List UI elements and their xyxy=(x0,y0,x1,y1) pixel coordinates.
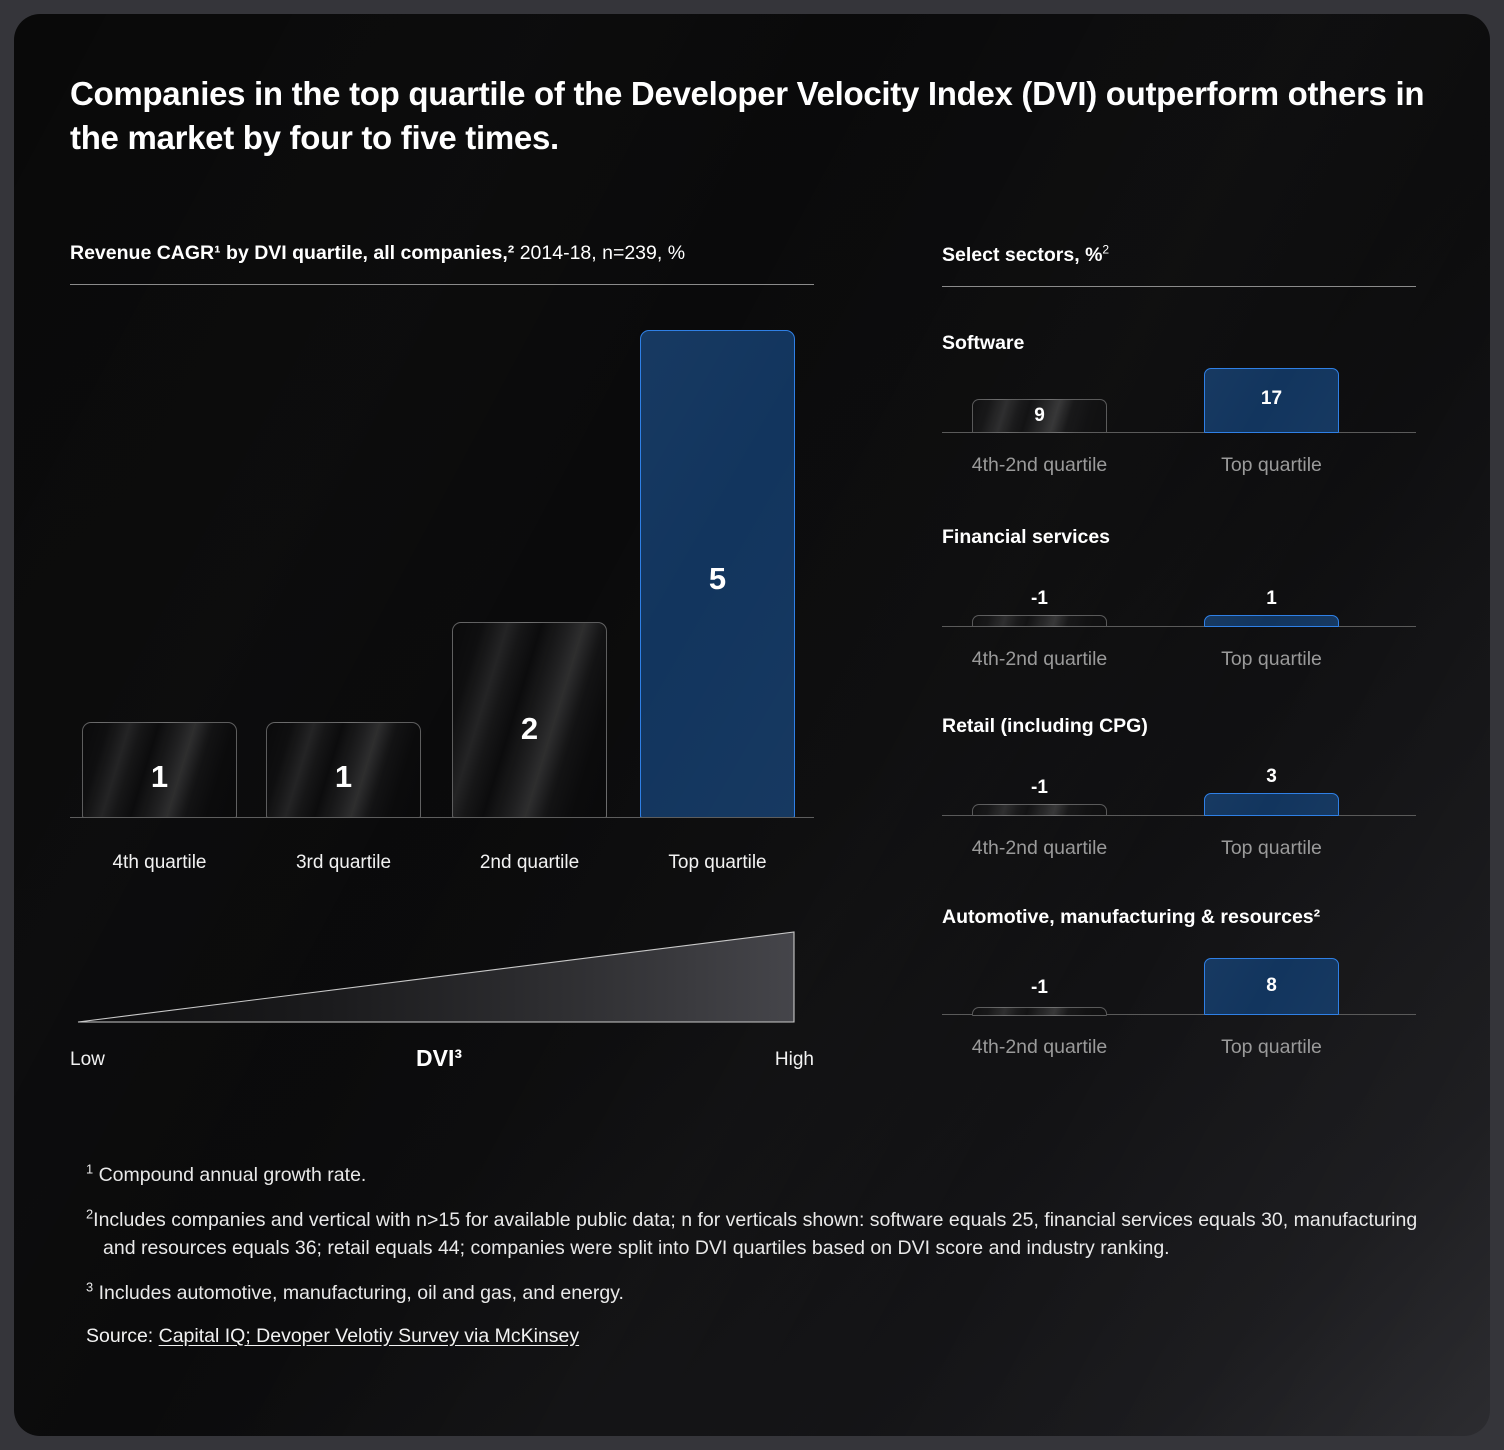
dvi-scale-axis-label: DVI³ xyxy=(314,1045,564,1072)
sector-bar-software-lower: 9 xyxy=(972,399,1107,433)
sector-financial-services: Financial services -1 1 4th-2nd quartile… xyxy=(942,526,1416,696)
page-title: Companies in the top quartile of the Dev… xyxy=(70,72,1450,160)
dvi-scale-high-label: High xyxy=(674,1049,814,1071)
xtick-top-quartile: Top quartile xyxy=(628,852,807,874)
left-chart-plot: 1 1 2 5 xyxy=(70,314,814,818)
footnote-1: 1 Compound annual growth rate. xyxy=(86,1162,1446,1190)
left-chart-axis-line xyxy=(70,817,814,818)
dvi-wedge-svg xyxy=(70,919,814,1027)
bar-value-top-quartile: 5 xyxy=(641,561,794,597)
sector-xtick-retail-lower: 4th-2nd quartile xyxy=(932,837,1147,860)
dvi-scale-low-label: Low xyxy=(70,1049,105,1071)
sector-bar-automotive-lower: -1 xyxy=(972,1007,1107,1016)
sector-title-software: Software xyxy=(942,332,1024,355)
left-chart-header-bold: Revenue CAGR¹ by DVI quartile, all compa… xyxy=(70,242,514,264)
sector-title-financial-services: Financial services xyxy=(942,526,1110,549)
right-panel-header-text: Select sectors, % xyxy=(942,244,1102,266)
source-prefix: Source: xyxy=(86,1325,159,1347)
bar-value-4th-quartile: 1 xyxy=(83,759,236,795)
bar-4th-quartile: 1 xyxy=(82,722,237,818)
sector-title-retail: Retail (including CPG) xyxy=(942,715,1148,738)
footnote-2-text: Includes companies and vertical with n>1… xyxy=(93,1209,1417,1259)
sector-bar-value-financial-services-lower: -1 xyxy=(973,588,1106,610)
sector-bar-retail-top: 3 xyxy=(1204,793,1339,816)
sector-software: Software 9 17 4th-2nd quartile Top quart… xyxy=(942,332,1416,502)
footnotes: 1 Compound annual growth rate. 2Includes… xyxy=(86,1162,1446,1348)
xtick-2nd-quartile: 2nd quartile xyxy=(440,852,619,874)
sector-xtick-financial-services-top: Top quartile xyxy=(1164,648,1379,671)
left-chart-divider xyxy=(70,284,814,285)
sector-xtick-software-top: Top quartile xyxy=(1164,454,1379,477)
xtick-4th-quartile: 4th quartile xyxy=(70,852,249,874)
source-link[interactable]: Capital IQ; Devoper Velotiy Survey via M… xyxy=(159,1325,580,1347)
bar-value-2nd-quartile: 2 xyxy=(453,711,606,747)
footnote-3: 3 Includes automotive, manufacturing, oi… xyxy=(86,1280,1446,1308)
sector-xtick-financial-services-lower: 4th-2nd quartile xyxy=(932,648,1147,671)
right-panel-header-footnote-marker: 2 xyxy=(1102,243,1109,257)
source-line: Source: Capital IQ; Devoper Velotiy Surv… xyxy=(86,1325,1446,1348)
sector-bar-value-retail-top: 3 xyxy=(1205,766,1338,788)
sector-bar-financial-services-top: 1 xyxy=(1204,615,1339,627)
sector-bar-value-retail-lower: -1 xyxy=(973,777,1106,799)
sector-bar-automotive-top: 8 xyxy=(1204,958,1339,1015)
xtick-3rd-quartile: 3rd quartile xyxy=(254,852,433,874)
sector-retail: Retail (including CPG) -1 3 4th-2nd quar… xyxy=(942,715,1416,885)
sector-title-automotive: Automotive, manufacturing & resources² xyxy=(942,906,1320,929)
sector-xtick-automotive-lower: 4th-2nd quartile xyxy=(932,1036,1147,1059)
right-panel-divider xyxy=(942,286,1416,287)
sector-xtick-software-lower: 4th-2nd quartile xyxy=(932,454,1147,477)
bar-3rd-quartile: 1 xyxy=(266,722,421,818)
sector-bar-value-automotive-lower: -1 xyxy=(973,977,1106,999)
left-chart-header: Revenue CAGR¹ by DVI quartile, all compa… xyxy=(70,242,685,265)
sector-bar-value-software-top: 17 xyxy=(1205,388,1338,410)
sector-bar-value-software-lower: 9 xyxy=(973,405,1106,427)
right-panel-header: Select sectors, %2 xyxy=(942,244,1109,267)
infographic-card: Companies in the top quartile of the Dev… xyxy=(14,14,1490,1436)
dvi-scale-wedge xyxy=(70,919,814,1029)
bar-2nd-quartile: 2 xyxy=(452,622,607,818)
sector-bar-financial-services-lower: -1 xyxy=(972,615,1107,627)
footnote-3-text: Includes automotive, manufacturing, oil … xyxy=(93,1282,624,1304)
sector-automotive: Automotive, manufacturing & resources² -… xyxy=(942,906,1416,1078)
sector-bar-software-top: 17 xyxy=(1204,368,1339,433)
sector-bar-retail-lower: -1 xyxy=(972,804,1107,816)
bar-value-3rd-quartile: 1 xyxy=(267,759,420,795)
bar-top-quartile: 5 xyxy=(640,330,795,818)
sector-xtick-retail-top: Top quartile xyxy=(1164,837,1379,860)
sector-bar-value-automotive-top: 8 xyxy=(1205,975,1338,997)
footnote-1-text: Compound annual growth rate. xyxy=(93,1164,366,1186)
left-chart-header-regular: 2014-18, n=239, % xyxy=(514,242,685,264)
footnote-2: 2Includes companies and vertical with n>… xyxy=(86,1207,1446,1263)
sector-bar-value-financial-services-top: 1 xyxy=(1205,588,1338,610)
sector-xtick-automotive-top: Top quartile xyxy=(1164,1036,1379,1059)
